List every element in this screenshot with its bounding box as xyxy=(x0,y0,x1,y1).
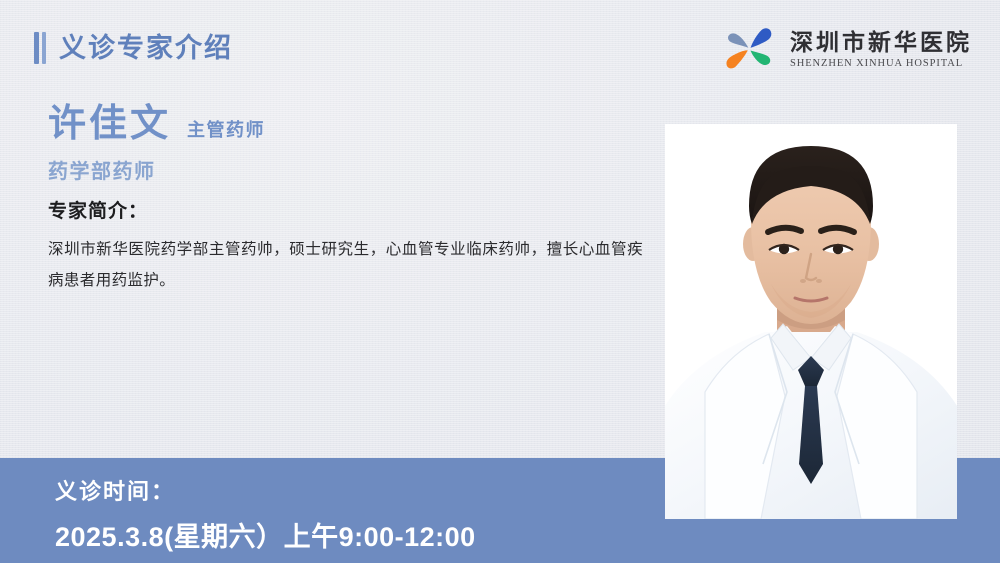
expert-title: 主管药师 xyxy=(187,116,265,142)
expert-name: 许佳文 xyxy=(48,104,171,146)
bio-text: 深圳市新华医院药学部主管药帅，硕士研究生，心血管专业临床药帅，擅长心血管疾病患者… xyxy=(48,234,643,296)
double-bar-accent-icon xyxy=(34,32,46,64)
expert-portrait-illustration xyxy=(665,124,957,519)
poster-canvas: 义诊专家介绍 深圳市新华医院 SHENZHEN XINHUA HOSPITAL xyxy=(0,0,1000,563)
hospital-logo: 深圳市新华医院 SHENZHEN XINHUA HOSPITAL xyxy=(722,22,972,78)
bio-heading: 专家简介： xyxy=(48,196,643,223)
event-time-value: 2025.3.8(星期六）上午9:00-12:00 xyxy=(55,515,476,554)
expert-department: 药学部药师 xyxy=(48,155,648,184)
hospital-logo-text: 深圳市新华医院 SHENZHEN XINHUA HOSPITAL xyxy=(790,31,972,68)
header: 义诊专家介绍 深圳市新华医院 SHENZHEN XINHUA HOSPITAL xyxy=(0,0,1000,100)
expert-name-row: 许佳文 主管药师 xyxy=(48,104,648,146)
expert-bio: 专家简介： 深圳市新华医院药学部主管药帅，硕士研究生，心血管专业临床药帅，擅长心… xyxy=(48,196,643,296)
page-title-text: 义诊专家介绍 xyxy=(59,35,233,62)
event-time-content: 义诊时间： 2025.3.8(星期六）上午9:00-12:00 xyxy=(55,474,476,554)
pinwheel-logo-icon xyxy=(722,22,778,78)
event-time-label: 义诊时间： xyxy=(55,474,476,506)
page-title: 义诊专家介绍 xyxy=(34,32,233,64)
expert-photo xyxy=(665,124,957,519)
expert-identity: 许佳文 主管药师 药学部药师 xyxy=(48,104,648,184)
hospital-name-en: SHENZHEN XINHUA HOSPITAL xyxy=(790,58,972,69)
hospital-name-cn: 深圳市新华医院 xyxy=(790,31,972,55)
